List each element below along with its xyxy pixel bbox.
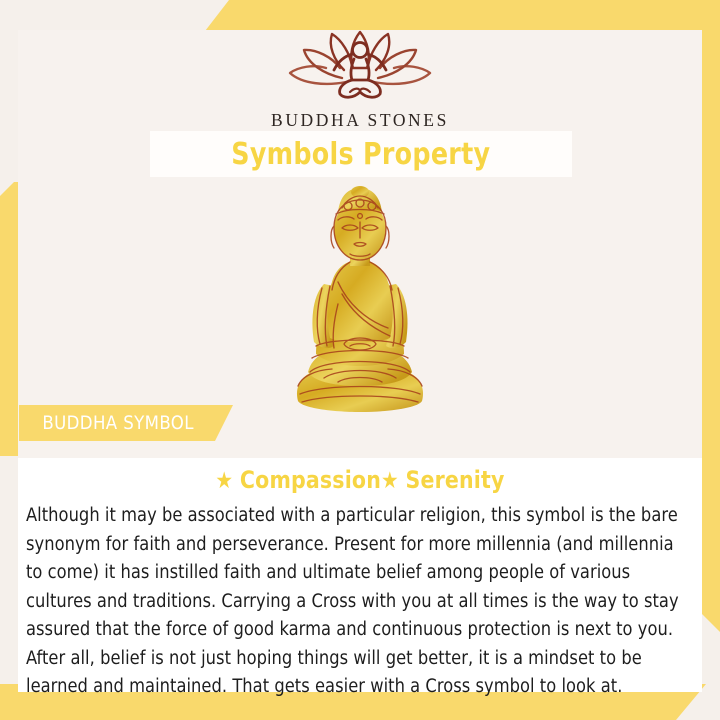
page-title: Symbols Property (231, 137, 490, 172)
attribute-serenity: Serenity (405, 466, 504, 494)
page-root: BUDDHA STONES Symbols Property (0, 0, 720, 720)
star-icon: ★ (215, 468, 233, 494)
description-paragraph: Although it may be associated with a par… (26, 502, 689, 702)
lotus-meditation-icon (276, 26, 444, 104)
attribute-compassion: Compassion (240, 466, 381, 494)
symbol-category-label: BUDDHA SYMBOL (42, 412, 193, 434)
title-banner: Symbols Property (150, 131, 572, 177)
hero-image (0, 186, 720, 414)
attributes-subtitle: ★Compassion★Serenity (18, 466, 702, 494)
star-icon: ★ (381, 468, 399, 494)
brand-logo: BUDDHA STONES (0, 26, 720, 131)
brand-name: BUDDHA STONES (271, 110, 449, 131)
symbol-category-tag: BUDDHA SYMBOL (19, 405, 233, 441)
seated-buddha-statue-image (268, 186, 452, 414)
